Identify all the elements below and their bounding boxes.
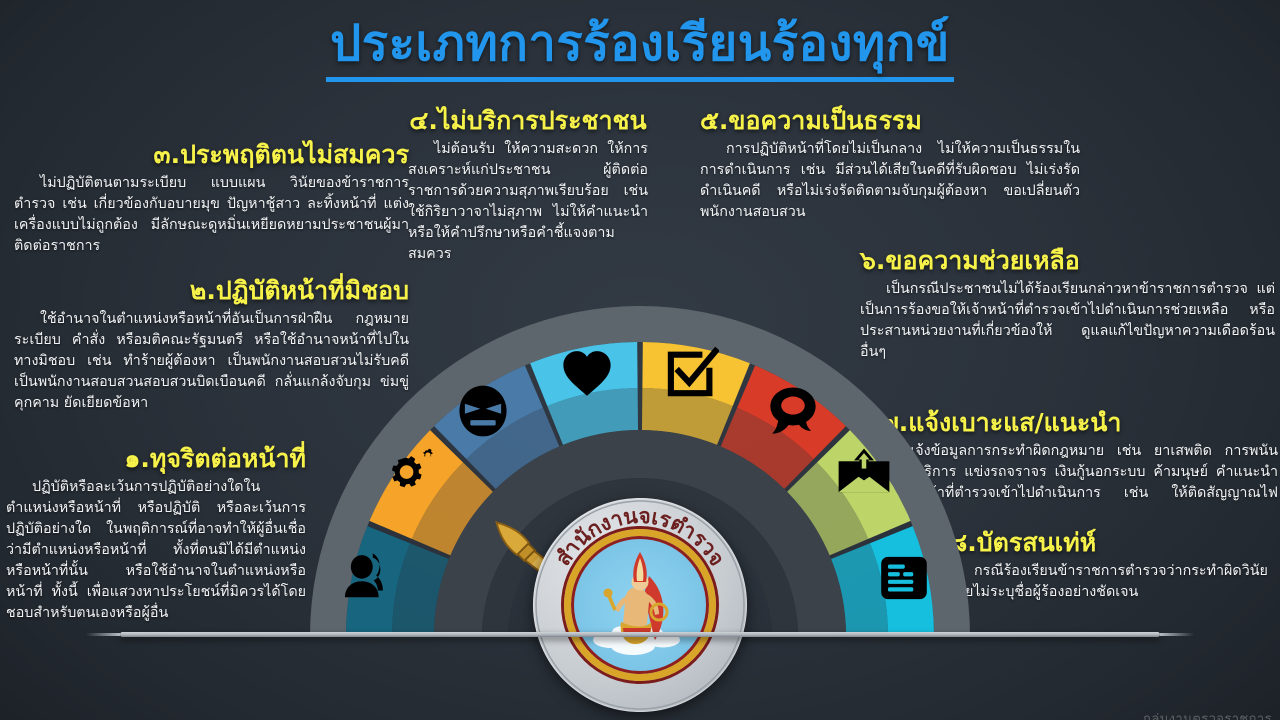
category-6-heading: ๖.ขอความช่วยเหลือ: [860, 246, 1275, 276]
seal-inner-disc: [564, 529, 716, 681]
agency-seal: สำนักงานจเรตำรวจ OFFICE OF INSPECTOR GEN…: [533, 498, 747, 712]
category-block-4: ๔.ไม่บริการประชาชน ไม่ต้อนรับ ให้ความสะด…: [408, 106, 648, 265]
baseline-shelf: [120, 632, 1160, 637]
category-4-heading: ๔.ไม่บริการประชาชน: [408, 106, 648, 136]
page-title: ประเภทการร้องเรียนร้องทุกข์: [326, 18, 954, 82]
deity-figure-icon: [571, 536, 709, 674]
category-3-heading: ๓.ประพฤติตนไม่สมควร: [14, 140, 409, 170]
category-block-3: ๓.ประพฤติตนไม่สมควร ไม่ปฏิบัติตนตามระเบี…: [14, 140, 409, 257]
category-4-body: ไม่ต้อนรับ ให้ความสะดวก ให้การสงเคราะห์แ…: [408, 139, 648, 266]
category-5-body: การปฏิบัติหน้าที่โดยไม่เป็นกลาง ไม่ให้คว…: [700, 139, 1080, 224]
half-donut-chart: สำนักงานจเรตำรวจ OFFICE OF INSPECTOR GEN…: [0, 300, 1280, 720]
category-3-body: ไม่ปฏิบัติตนตามระเบียบ แบบแผน วินัยของข้…: [14, 173, 409, 258]
category-block-5: ๕.ขอความเป็นธรรม การปฏิบัติหน้าที่โดยไม่…: [700, 106, 1080, 223]
infographic-canvas: ประเภทการร้องเรียนร้องทุกข์ ๓.ประพฤติตนไ…: [0, 0, 1280, 720]
title-container: ประเภทการร้องเรียนร้องทุกข์: [0, 18, 1280, 82]
category-5-heading: ๕.ขอความเป็นธรรม: [700, 106, 1080, 136]
watermark-text: กลุ่มงานตรวจราชการ: [1143, 708, 1272, 720]
seal-disc: สำนักงานจเรตำรวจ OFFICE OF INSPECTOR GEN…: [533, 498, 747, 712]
